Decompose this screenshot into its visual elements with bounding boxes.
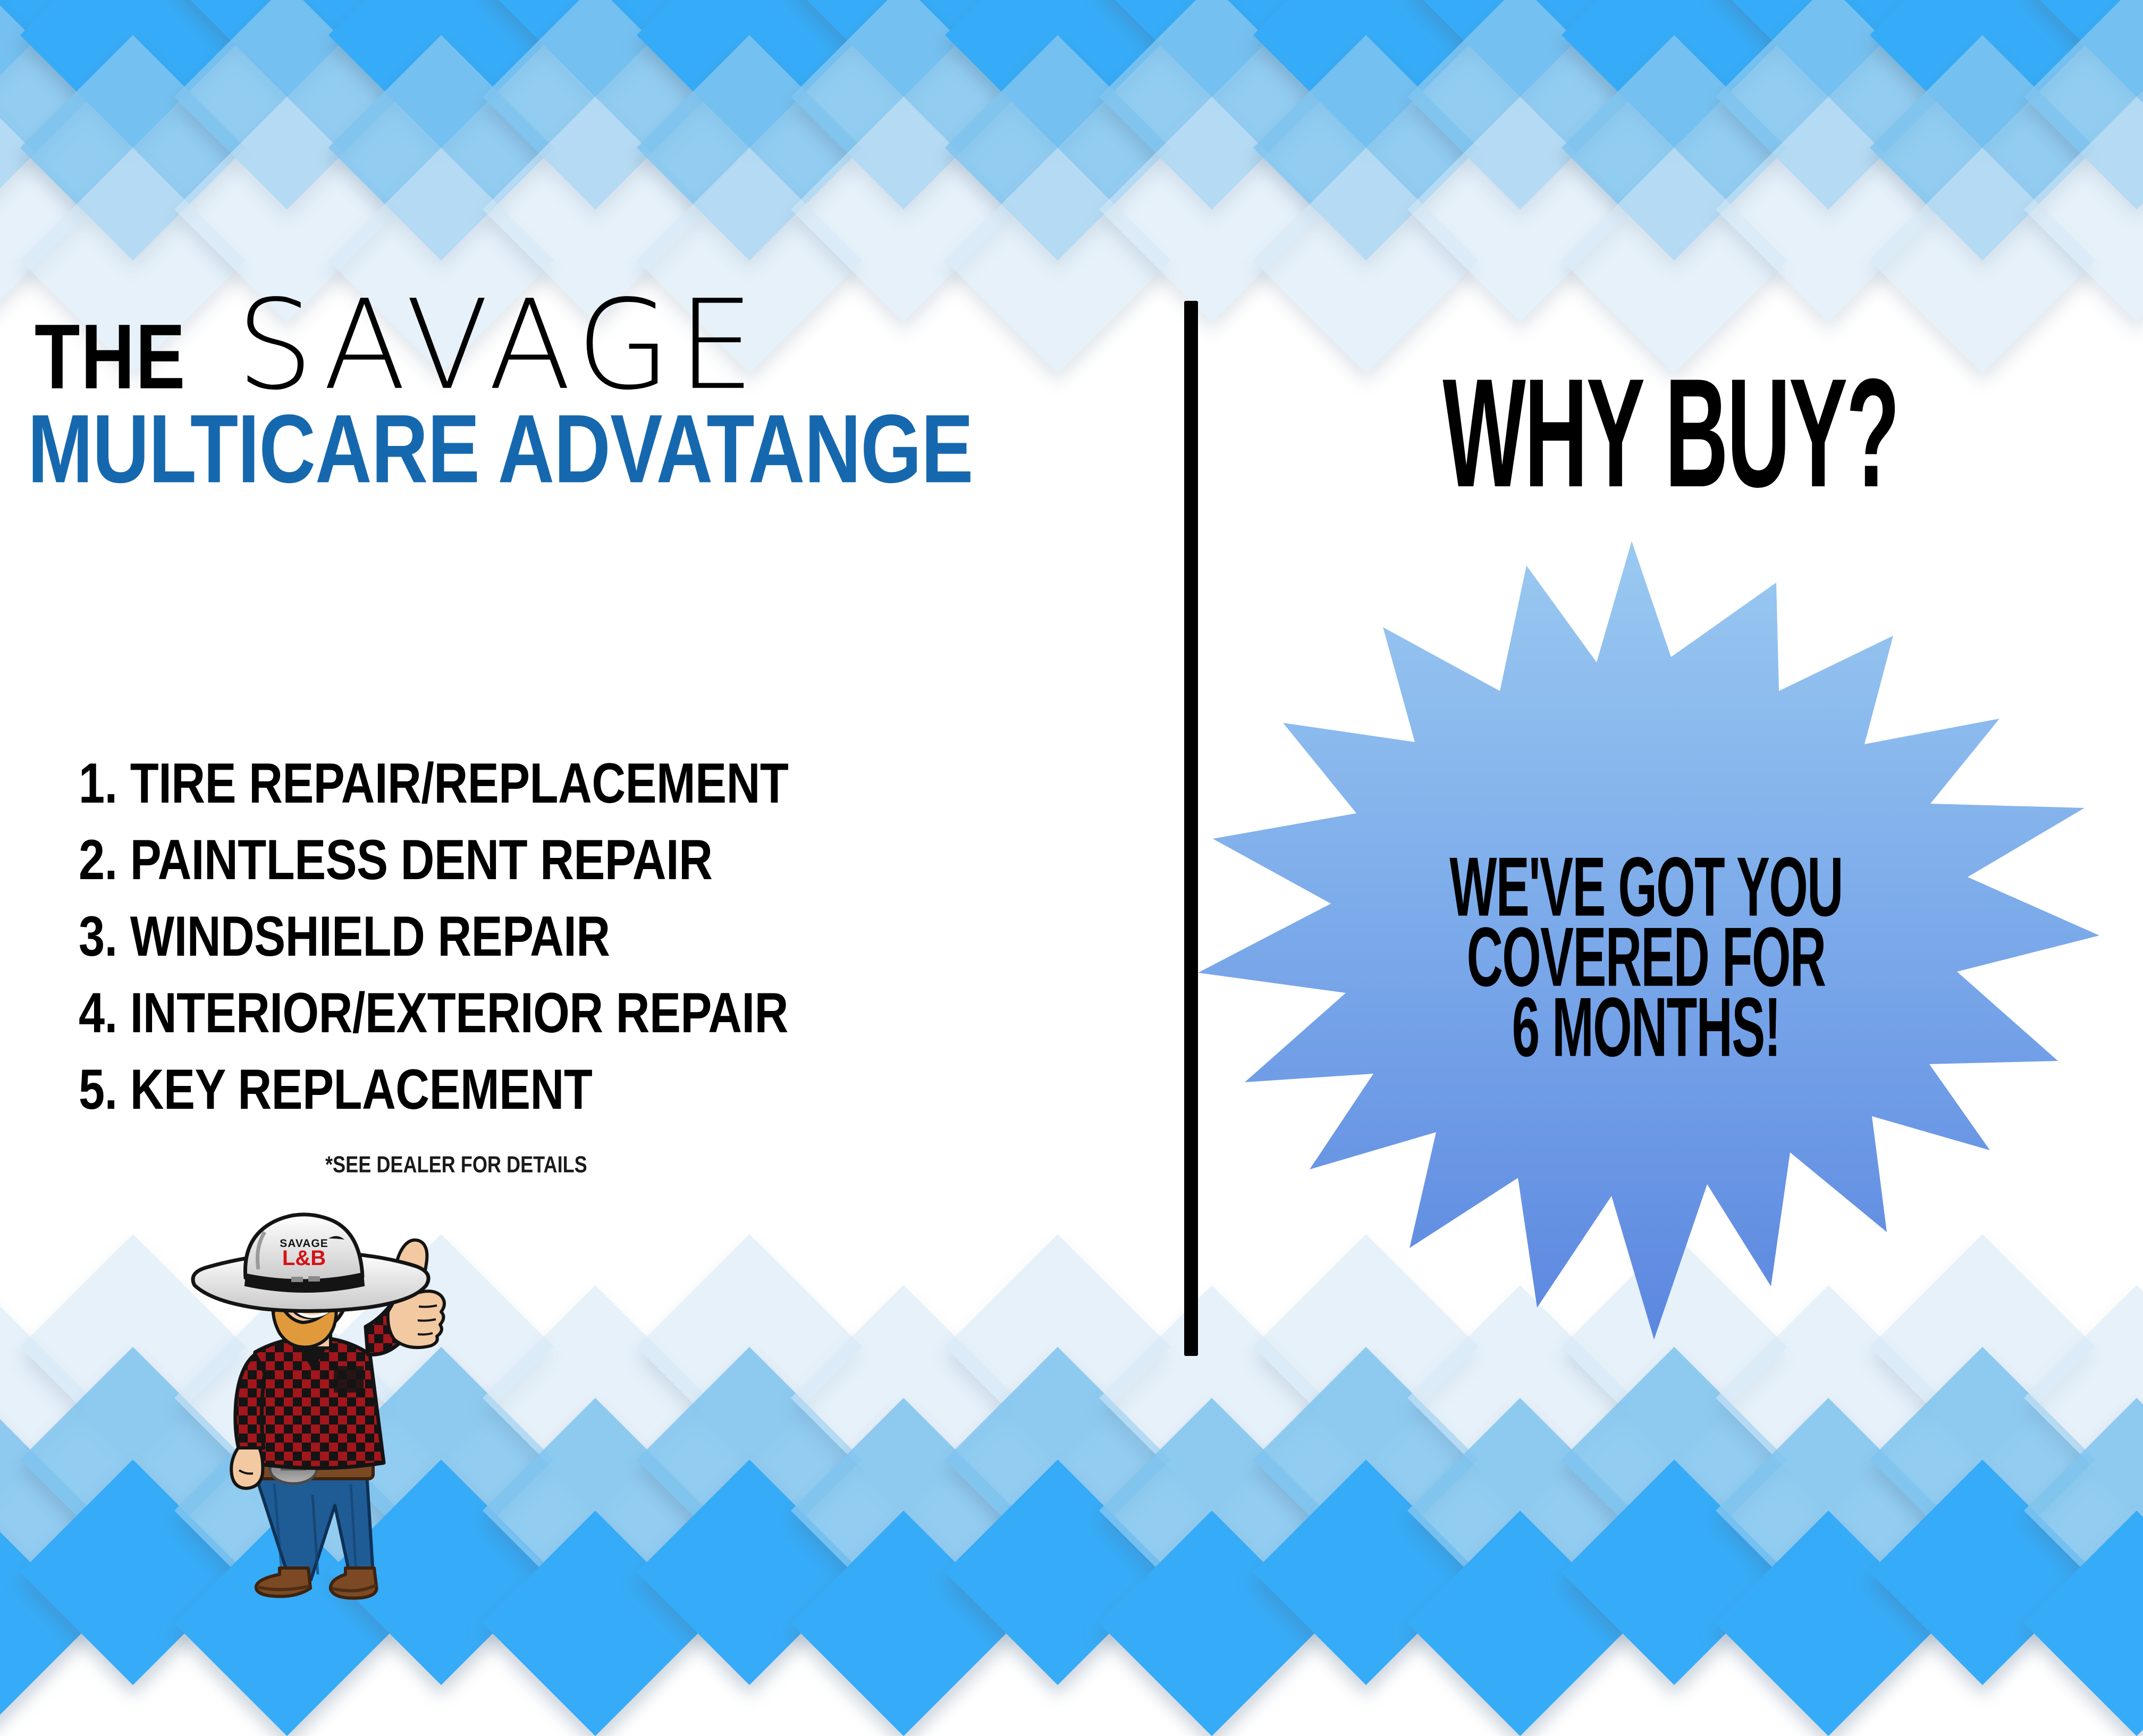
right-panel: WHY BUY? WE'VE GOT YOU COVERED FOR 6 MON…: [1198, 0, 2143, 1607]
why-buy-heading: WHY BUY?: [1321, 367, 2020, 500]
headline-savage: SAVAGE: [237, 296, 762, 394]
left-panel: THE SAVAGE MULTICARE ADVATANGE 1. TIRE R…: [0, 0, 1180, 1607]
mascot-jeans: [255, 1473, 373, 1580]
list-item: 4. INTERIOR/EXTERIOR REPAIR: [79, 985, 1089, 1042]
mascot-cowboy-character: SAVAGE L&B: [175, 1208, 452, 1607]
headline-the: THE: [35, 319, 186, 394]
hat-logo-lb: L&B: [282, 1246, 326, 1270]
mascot-cowboy-hat: SAVAGE L&B: [193, 1215, 428, 1311]
list-item: 2. PAINTLESS DENT REPAIR: [79, 832, 1089, 889]
list-item: 1. TIRE REPAIR/REPLACEMENT: [79, 755, 1089, 812]
headline-block: THE SAVAGE MULTICARE ADVATANGE: [21, 298, 1148, 478]
headline-row-primary: THE SAVAGE: [21, 298, 1148, 394]
starburst-badge: WE'VE GOT YOU COVERED FOR 6 MONTHS!: [1186, 532, 2106, 1345]
list-item: 5. KEY REPLACEMENT: [79, 1061, 1089, 1118]
service-list: 1. TIRE REPAIR/REPLACEMENT 2. PAINTLESS …: [79, 759, 1131, 1142]
starburst-shape: [1186, 532, 2106, 1345]
headline-multicare-advantage: MULTICARE ADVATANGE: [21, 402, 1131, 495]
mascot-left-hand: [231, 1448, 263, 1488]
list-item: 3. WINDSHIELD REPAIR: [79, 908, 1089, 965]
poster-content: THE SAVAGE MULTICARE ADVATANGE 1. TIRE R…: [0, 0, 2143, 1607]
mascot-boots: [256, 1568, 377, 1598]
disclaimer-text: *SEE DEALER FOR DETAILS: [325, 1152, 587, 1178]
